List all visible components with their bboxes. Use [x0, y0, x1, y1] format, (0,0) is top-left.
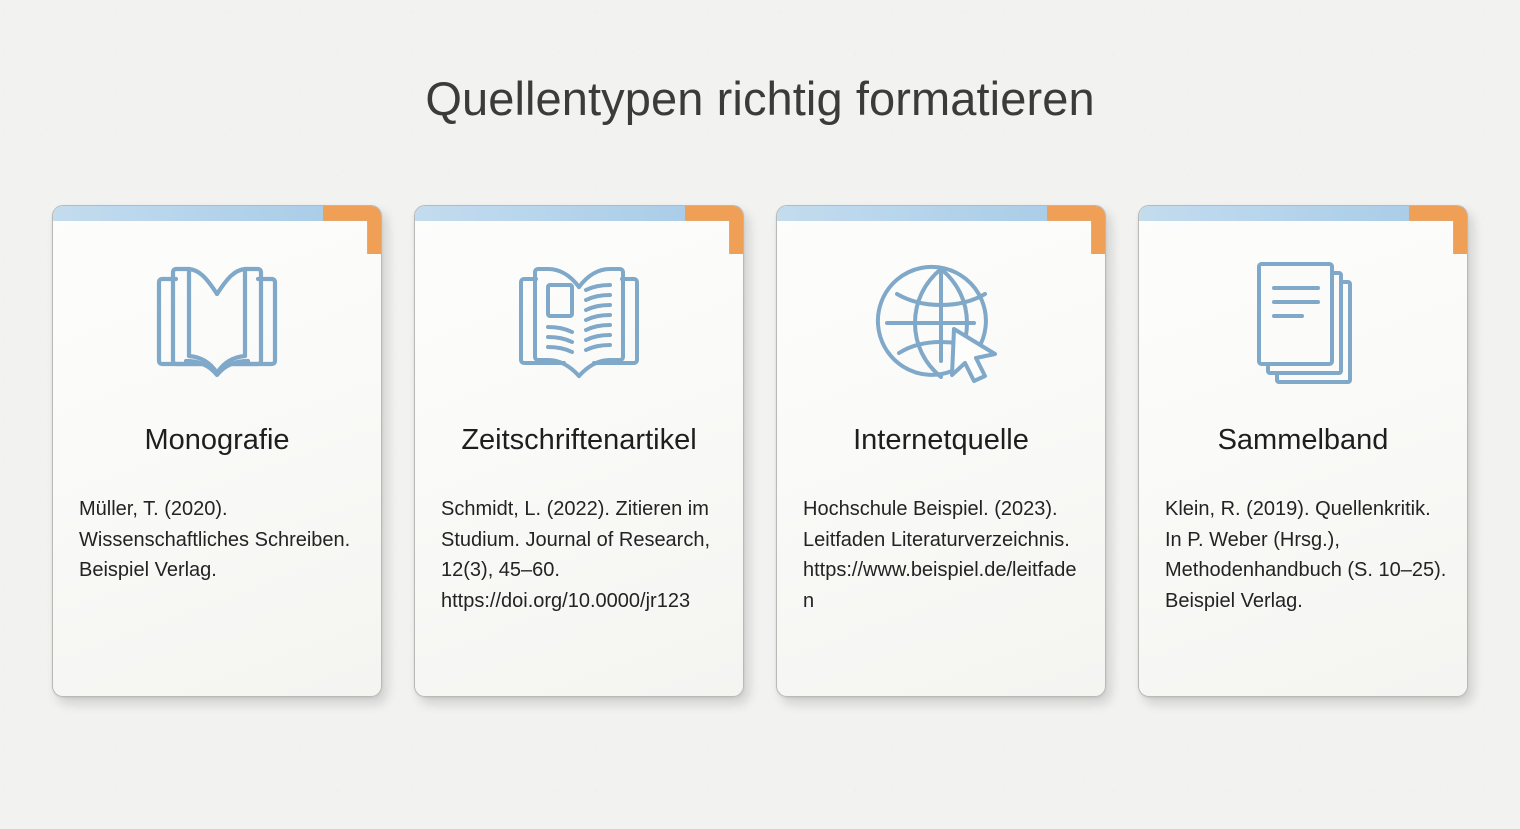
- card-title: Zeitschriftenartikel: [415, 424, 743, 457]
- card-citation: Müller, T. (2020). Wissenschaftliches Sc…: [79, 494, 363, 586]
- card-citation: Schmidt, L. (2022). Zitieren im Studium.…: [441, 494, 725, 616]
- corner-ribbon-orange: [1047, 206, 1105, 254]
- card-title: Monografie: [53, 424, 381, 457]
- stacked-documents-icon: [1139, 248, 1467, 398]
- source-card-zeitschriftenartikel[interactable]: Zeitschriftenartikel Schmidt, L. (2022).…: [414, 205, 744, 697]
- card-title: Internetquelle: [777, 424, 1105, 457]
- corner-ribbon-orange: [685, 206, 743, 254]
- open-book-with-text-icon: [415, 248, 743, 398]
- source-card-internetquelle[interactable]: Internetquelle Hochschule Beispiel. (202…: [776, 205, 1106, 697]
- corner-ribbon-orange: [323, 206, 381, 254]
- source-type-card-grid: Monografie Müller, T. (2020). Wissenscha…: [52, 205, 1468, 697]
- card-citation: Klein, R. (2019). Quellenkritik. In P. W…: [1165, 494, 1449, 616]
- source-card-sammelband[interactable]: Sammelband Klein, R. (2019). Quellenkrit…: [1138, 205, 1468, 697]
- card-title: Sammelband: [1139, 424, 1467, 457]
- open-book-icon: [53, 248, 381, 398]
- corner-ribbon-orange: [1409, 206, 1467, 254]
- globe-cursor-icon: [777, 248, 1105, 398]
- source-card-monografie[interactable]: Monografie Müller, T. (2020). Wissenscha…: [52, 205, 382, 697]
- page-title: Quellentypen richtig formatieren: [0, 71, 1520, 126]
- card-citation: Hochschule Beispiel. (2023). Leitfaden L…: [803, 494, 1087, 616]
